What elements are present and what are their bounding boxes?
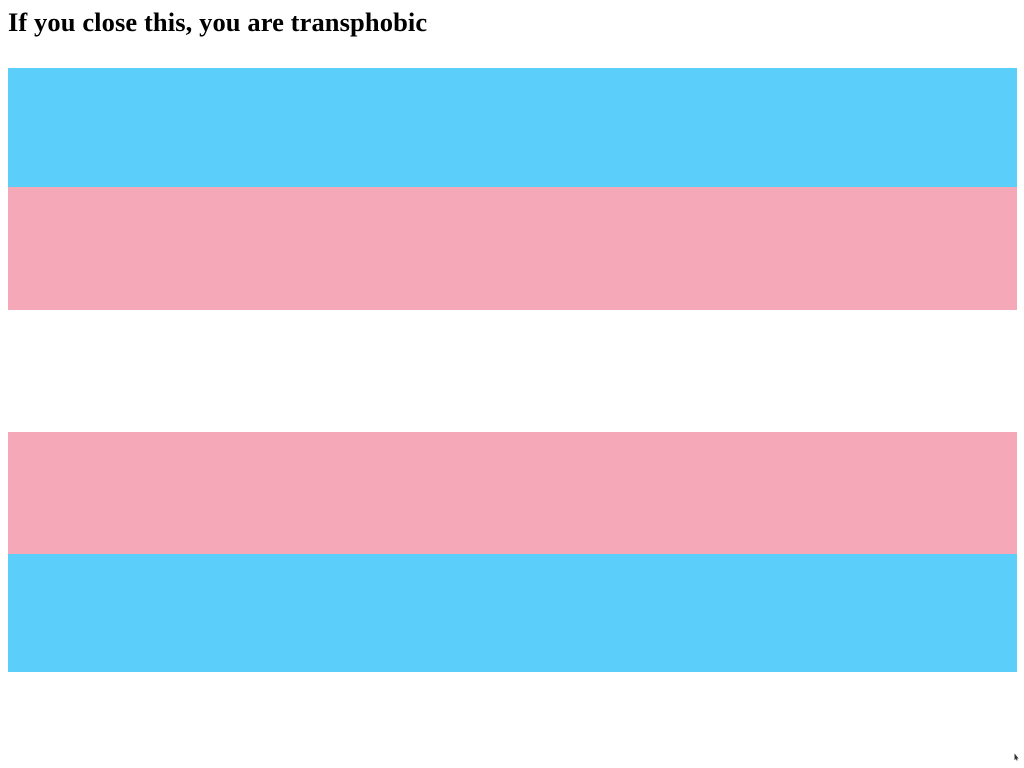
- heading-spacer: [8, 38, 1016, 68]
- transgender-pride-flag-image: [8, 68, 1017, 672]
- flag-stripe-blue-bottom: [8, 554, 1017, 672]
- flag-stripe-blue-top: [8, 68, 1017, 187]
- mouse-cursor-icon: [1014, 753, 1019, 761]
- flag-stripe-pink-upper: [8, 187, 1017, 310]
- flag-stripe-pink-lower: [8, 432, 1017, 554]
- page-title: If you close this, you are transphobic: [8, 8, 1016, 38]
- page-content: If you close this, you are transphobic: [0, 0, 1024, 680]
- flag-stripe-white-middle: [8, 310, 1017, 432]
